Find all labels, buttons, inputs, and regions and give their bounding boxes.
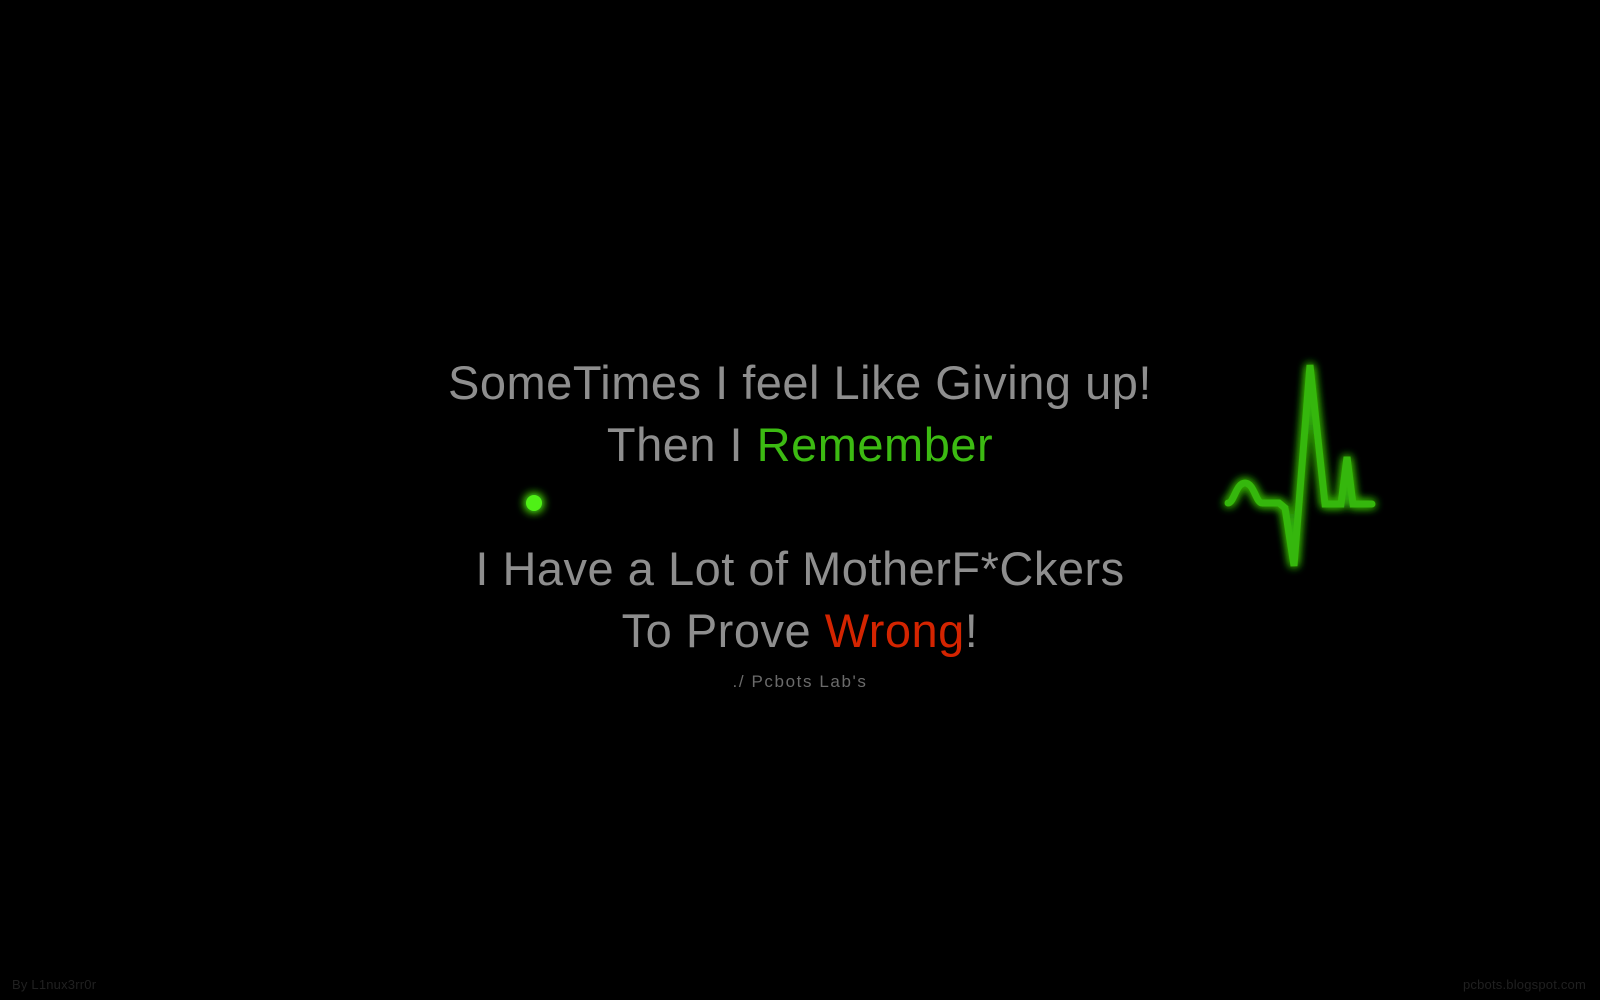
quote-line-4-accent-wrong: Wrong <box>825 604 965 657</box>
quote-line-1: SomeTimes I feel Like Giving up! <box>0 352 1600 414</box>
quote-line-4-plain-before: To Prove <box>622 604 825 657</box>
wallpaper-canvas: SomeTimes I feel Like Giving up! Then I … <box>0 0 1600 1000</box>
quote-line-2-plain: Then I <box>607 418 757 471</box>
watermark-author: By L1nux3rr0r <box>12 977 96 992</box>
watermark-site: pcbots.blogspot.com <box>1463 977 1586 992</box>
quote-line-4-plain-after: ! <box>965 604 979 657</box>
quote-line-2: Then I Remember <box>0 414 1600 476</box>
ekg-heartbeat-line <box>0 0 1600 1000</box>
quote-bottom-block: I Have a Lot of MotherF*Ckers To Prove W… <box>0 538 1600 662</box>
quote-line-3: I Have a Lot of MotherF*Ckers <box>0 538 1600 600</box>
ekg-start-dot <box>526 495 542 511</box>
signature-credit: ./ Pcbots Lab's <box>0 672 1600 692</box>
quote-line-2-accent-remember: Remember <box>757 418 993 471</box>
quote-top-block: SomeTimes I feel Like Giving up! Then I … <box>0 352 1600 476</box>
quote-line-4: To Prove Wrong! <box>0 600 1600 662</box>
